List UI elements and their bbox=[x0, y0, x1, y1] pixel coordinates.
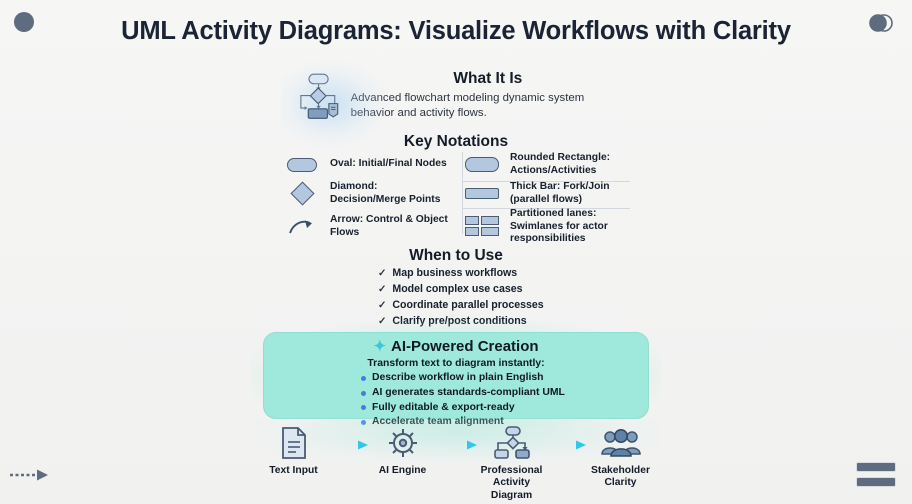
pipeline-step-stakeholder-clarity: Stakeholder Clarity bbox=[589, 425, 652, 490]
ai-panel-item-label: AI generates standards-compliant UML bbox=[372, 386, 565, 401]
list-item: Describe workflow in plain English bbox=[361, 371, 648, 386]
document-icon bbox=[262, 425, 325, 461]
list-item: ✓Model complex use cases bbox=[378, 282, 547, 298]
when-to-use-item-label: Map business workflows bbox=[392, 266, 517, 282]
notation-label-arrow: Arrow: Control & Object Flows bbox=[328, 208, 456, 246]
list-item: AI generates standards-compliant UML bbox=[361, 386, 648, 401]
notation-label-rounded-rectangle: Rounded Rectangle: Actions/Activities bbox=[508, 150, 636, 179]
check-icon: ✓ bbox=[378, 266, 386, 281]
list-item: ✓Coordinate parallel processes bbox=[378, 298, 547, 314]
arrow-shape-icon bbox=[276, 208, 328, 246]
sparkle-icon: ✦ bbox=[373, 339, 386, 354]
check-icon: ✓ bbox=[378, 282, 386, 297]
bullet-icon bbox=[361, 391, 366, 396]
when-to-use-heading: When to Use bbox=[0, 247, 912, 265]
pipeline-step-activity-diagram: Professional Activity Diagram bbox=[480, 425, 543, 502]
gradient-arrow-icon bbox=[325, 425, 371, 457]
diamond-shape-icon bbox=[276, 179, 328, 208]
oval-shape-icon bbox=[276, 150, 328, 179]
when-to-use-item-label: Coordinate parallel processes bbox=[392, 298, 543, 314]
pipeline-step-label: Professional Activity Diagram bbox=[480, 465, 543, 502]
notation-label-thick-bar: Thick Bar: Fork/Join (parallel flows) bbox=[508, 179, 636, 208]
key-notations-heading: Key Notations bbox=[0, 133, 912, 151]
pipeline-step-label: Stakeholder Clarity bbox=[589, 465, 652, 490]
bullet-icon bbox=[361, 376, 366, 381]
ai-panel-heading: ✦ AI-Powered Creation bbox=[264, 338, 648, 355]
what-it-is-heading: What It Is bbox=[351, 70, 625, 88]
fork-join-bars-icon bbox=[856, 462, 896, 490]
rounded-rect-shape-icon bbox=[456, 150, 508, 179]
what-it-is-body: Advanced flowchart modeling dynamic syst… bbox=[351, 91, 625, 121]
ai-panel-item-label: Describe workflow in plain English bbox=[372, 371, 543, 386]
thick-bar-shape-icon bbox=[456, 179, 508, 208]
flowchart-icon bbox=[295, 64, 341, 130]
list-item: ✓Map business workflows bbox=[378, 266, 547, 282]
key-notations-grid: Oval: Initial/Final Nodes Rounded Rectan… bbox=[276, 150, 636, 246]
ai-panel-heading-label: AI-Powered Creation bbox=[391, 338, 539, 355]
gradient-arrow-icon bbox=[543, 425, 589, 457]
check-icon: ✓ bbox=[378, 298, 386, 313]
pipeline-section: Text Input bbox=[262, 425, 652, 502]
pipeline-step-label: AI Engine bbox=[371, 465, 434, 477]
slide-canvas: UML Activity Diagrams: Visualize Workflo… bbox=[0, 0, 912, 504]
ai-powered-creation-panel: ✦ AI-Powered Creation Transform text to … bbox=[263, 332, 649, 419]
what-it-is-section: What It Is Advanced flowchart modeling d… bbox=[295, 64, 625, 130]
notation-label-oval: Oval: Initial/Final Nodes bbox=[328, 150, 456, 179]
notation-label-swimlanes: Partitioned lanes: Swimlanes for actor r… bbox=[508, 208, 636, 246]
people-group-icon bbox=[589, 425, 652, 461]
pipeline-step-text-input: Text Input bbox=[262, 425, 325, 477]
gradient-arrow-icon bbox=[434, 425, 480, 457]
activity-diagram-icon bbox=[480, 425, 543, 461]
ai-panel-subheading: Transform text to diagram instantly: bbox=[264, 358, 648, 369]
notation-label-diamond: Diamond: Decision/Merge Points bbox=[328, 179, 456, 208]
ai-panel-item-label: Fully editable & export-ready bbox=[372, 401, 515, 416]
pipeline-step-ai-engine: AI Engine bbox=[371, 425, 434, 477]
page-title: UML Activity Diagrams: Visualize Workflo… bbox=[0, 17, 912, 46]
when-to-use-item-label: Model complex use cases bbox=[392, 282, 522, 298]
pipeline-step-label: Text Input bbox=[262, 465, 325, 477]
swimlanes-shape-icon bbox=[456, 208, 508, 246]
gear-icon bbox=[371, 425, 434, 461]
dashed-arrow-icon bbox=[8, 468, 54, 482]
list-item: Fully editable & export-ready bbox=[361, 401, 648, 416]
bullet-icon bbox=[361, 405, 366, 410]
